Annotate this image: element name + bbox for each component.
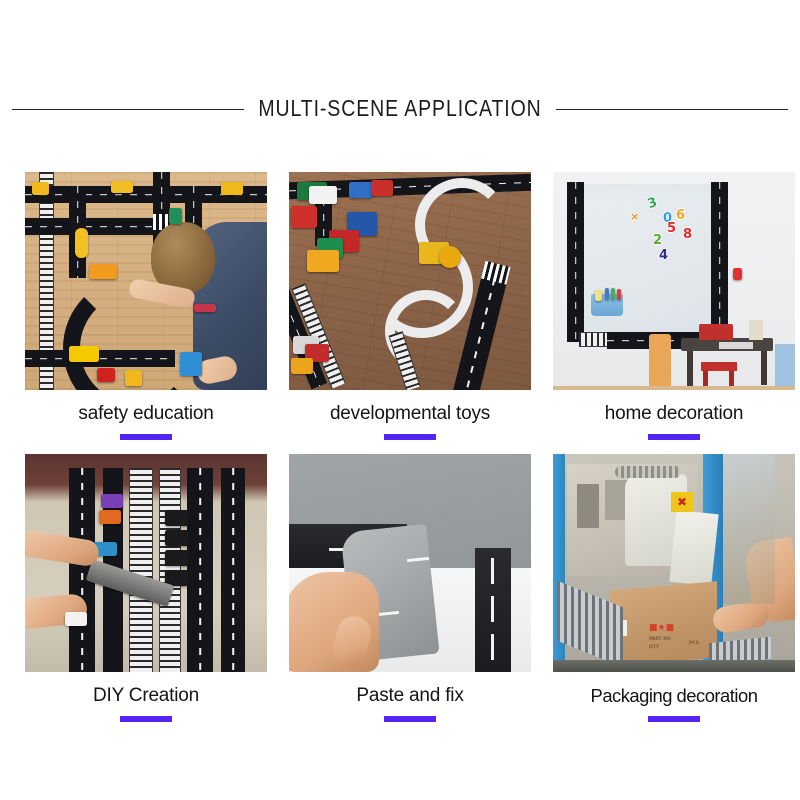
toy-vehicle <box>291 358 313 374</box>
glass-panel <box>723 454 775 604</box>
keyboard <box>719 342 753 349</box>
page-header: MULTI-SCENE APPLICATION <box>0 98 800 121</box>
lane-dash <box>491 634 494 660</box>
scene-photo-safety-education <box>25 172 267 390</box>
warning-x-mark: ✖ <box>677 496 687 508</box>
toy-vehicle <box>439 246 461 268</box>
toy-vehicle <box>111 181 133 193</box>
lane-dash <box>25 226 155 228</box>
toy-vehicle <box>180 352 202 376</box>
scene-caption: Paste and fix <box>289 685 531 722</box>
marker <box>611 288 615 300</box>
scene-photo-diy-creation <box>25 454 267 672</box>
scene-caption-label: safety education <box>25 403 267 425</box>
scene-card-diy-creation[interactable]: DIY Creation <box>25 454 267 722</box>
caption-accent-bar <box>384 434 436 440</box>
scene-grid: safety education <box>25 172 775 722</box>
marker <box>595 290 602 301</box>
toy-vehicle <box>97 368 115 382</box>
lane-dash <box>25 358 175 360</box>
scene-card-developmental-toys[interactable]: developmental toys <box>289 172 531 440</box>
header-rule-left <box>12 109 244 110</box>
machine-part <box>577 484 599 528</box>
toy-vehicle <box>89 264 117 279</box>
road-tape-vertical <box>711 182 728 334</box>
bookshelf <box>775 344 795 390</box>
carton-text-pcs: PCS <box>689 642 699 647</box>
marker <box>605 288 609 300</box>
toy-vehicle <box>309 186 337 204</box>
scene-caption-label: developmental toys <box>289 403 531 425</box>
scene-photo-home-decoration: 3 × 0 6 5 8 2 4 <box>553 172 795 390</box>
scene-caption-label: home decoration <box>553 403 795 425</box>
lane-dash <box>575 182 577 342</box>
toy-vehicle <box>99 510 121 524</box>
scene-caption-label: Paste and fix <box>289 685 531 707</box>
toy-vehicle <box>69 346 99 362</box>
toy-vehicle <box>75 228 88 258</box>
page-title: MULTI-SCENE APPLICATION <box>258 96 541 123</box>
scene-card-home-decoration[interactable]: 3 × 0 6 5 8 2 4 <box>553 172 795 440</box>
scene-caption: DIY Creation <box>25 685 267 722</box>
red-chair <box>699 324 733 340</box>
floor <box>553 386 795 390</box>
magnet-number: 6 <box>676 209 685 222</box>
toy-vehicle <box>32 182 49 195</box>
lane-dash <box>199 468 201 672</box>
road-tape-vertical <box>187 468 213 672</box>
header-rule-right <box>556 109 788 110</box>
magnet-number: 5 <box>667 222 676 235</box>
scene-caption-label: Packaging decoration <box>553 685 795 707</box>
table-leg <box>687 351 693 389</box>
caption-accent-bar <box>648 434 700 440</box>
scene-card-packaging-decoration[interactable]: ✖ ■★■ PART NO QTY PCS Packaging decorati… <box>553 454 795 722</box>
toy-vehicle <box>221 182 243 195</box>
carton-text-part-no: PART NO <box>649 638 671 643</box>
magnet-number: 8 <box>683 228 692 241</box>
cable-conduit <box>615 466 681 478</box>
scene-caption: Packaging decoration <box>553 685 795 722</box>
scene-photo-packaging-decoration: ✖ ■★■ PART NO QTY PCS <box>553 454 795 672</box>
toy-vehicle <box>125 370 142 386</box>
road-tape-vertical <box>221 468 245 672</box>
caption-accent-bar <box>648 716 700 722</box>
scene-caption: developmental toys <box>289 403 531 440</box>
red-chair-seat <box>701 362 737 371</box>
carton-logo: ■★■ <box>649 624 674 633</box>
parking-bay <box>165 510 189 526</box>
parking-bay <box>165 550 189 566</box>
scene-card-safety-education[interactable]: safety education <box>25 172 267 440</box>
caption-accent-bar <box>384 716 436 722</box>
lane-dash <box>491 596 494 622</box>
magnet-symbol-multiply: × <box>630 211 639 222</box>
toy-vehicle <box>349 182 373 198</box>
floor-strip <box>553 660 795 672</box>
magnet-number: 2 <box>653 234 662 247</box>
magnet-number: 4 <box>659 249 668 262</box>
traffic-sign <box>169 208 182 224</box>
caption-accent-bar <box>120 716 172 722</box>
traffic-sign <box>194 304 216 312</box>
scene-photo-developmental-toys <box>289 172 531 390</box>
lane-dash <box>719 182 721 334</box>
caption-accent-bar <box>120 434 172 440</box>
lane-dash <box>232 468 234 672</box>
road-tape-horizontal <box>25 350 175 367</box>
toy-vehicle <box>291 206 317 228</box>
orange-chair <box>649 334 671 390</box>
carton-text-qty: QTY <box>649 646 659 651</box>
scene-card-paste-and-fix[interactable]: Paste and fix <box>289 454 531 722</box>
wall-sign <box>733 268 742 280</box>
scene-caption-label: DIY Creation <box>25 685 267 707</box>
table-leg <box>761 351 767 385</box>
scene-caption: safety education <box>25 403 267 440</box>
marker <box>617 289 621 300</box>
toy-vehicle <box>307 250 339 272</box>
scene-caption: home decoration <box>553 403 795 440</box>
road-tape-horizontal <box>25 218 155 235</box>
railway-track-tape <box>129 468 153 672</box>
toy-vehicle-in-hand <box>65 612 87 626</box>
road-tape-vertical <box>567 182 584 342</box>
toy-vehicle <box>371 180 393 196</box>
pencil-cup <box>749 320 763 340</box>
parking-bay <box>165 530 189 546</box>
toy-vehicle <box>101 494 123 508</box>
scene-photo-paste-and-fix <box>289 454 531 672</box>
tape-head-plate <box>669 510 718 586</box>
lane-dash <box>491 558 494 584</box>
lane-dash <box>81 468 83 672</box>
